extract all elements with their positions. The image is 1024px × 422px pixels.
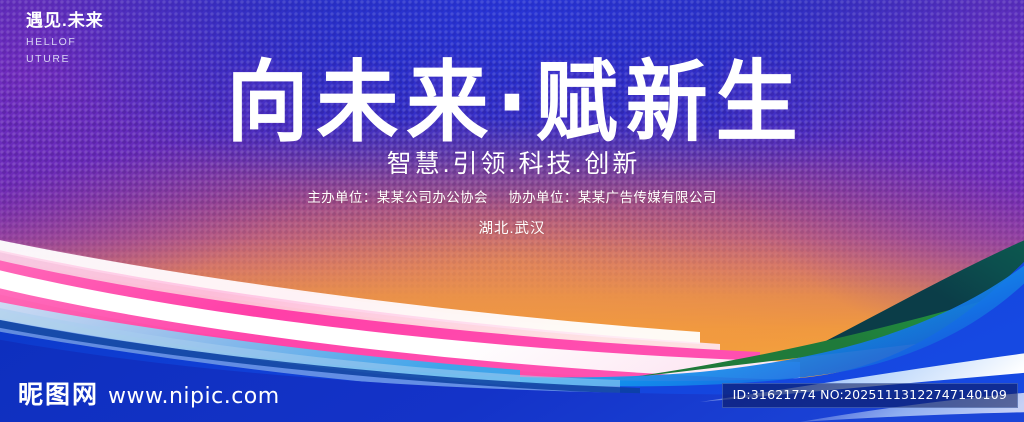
poster-subtitle: 智慧.引领.科技.创新 xyxy=(0,148,1024,180)
poster-headline: 向未来·赋新生 xyxy=(0,52,1024,156)
organizer-line: 主办单位：某某公司办公协会 协办单位：某某广告传媒有限公司 xyxy=(0,188,1024,208)
logo-english-line1: HELLOF xyxy=(26,35,136,49)
host-organizer-label: 主办单位：某某公司办公协会 xyxy=(307,190,488,205)
cohost-organizer-label: 协办单位：某某广告传媒有限公司 xyxy=(508,190,717,205)
logo-chinese-text: 遇见.未来 xyxy=(26,10,136,32)
image-id-badge: ID:31621774 NO:20251113122747140109 xyxy=(722,383,1018,408)
watermark-site-name: 昵图网 xyxy=(18,381,99,409)
watermark-site-url: www.nipic.com xyxy=(108,384,280,410)
site-watermark: 昵图网 www.nipic.com xyxy=(18,381,280,410)
poster-canvas: 遇见.未来 HELLOF UTURE 向未来·赋新生 智慧.引领.科技.创新 主… xyxy=(0,0,1024,422)
event-location: 湖北.武汉 xyxy=(0,218,1024,240)
